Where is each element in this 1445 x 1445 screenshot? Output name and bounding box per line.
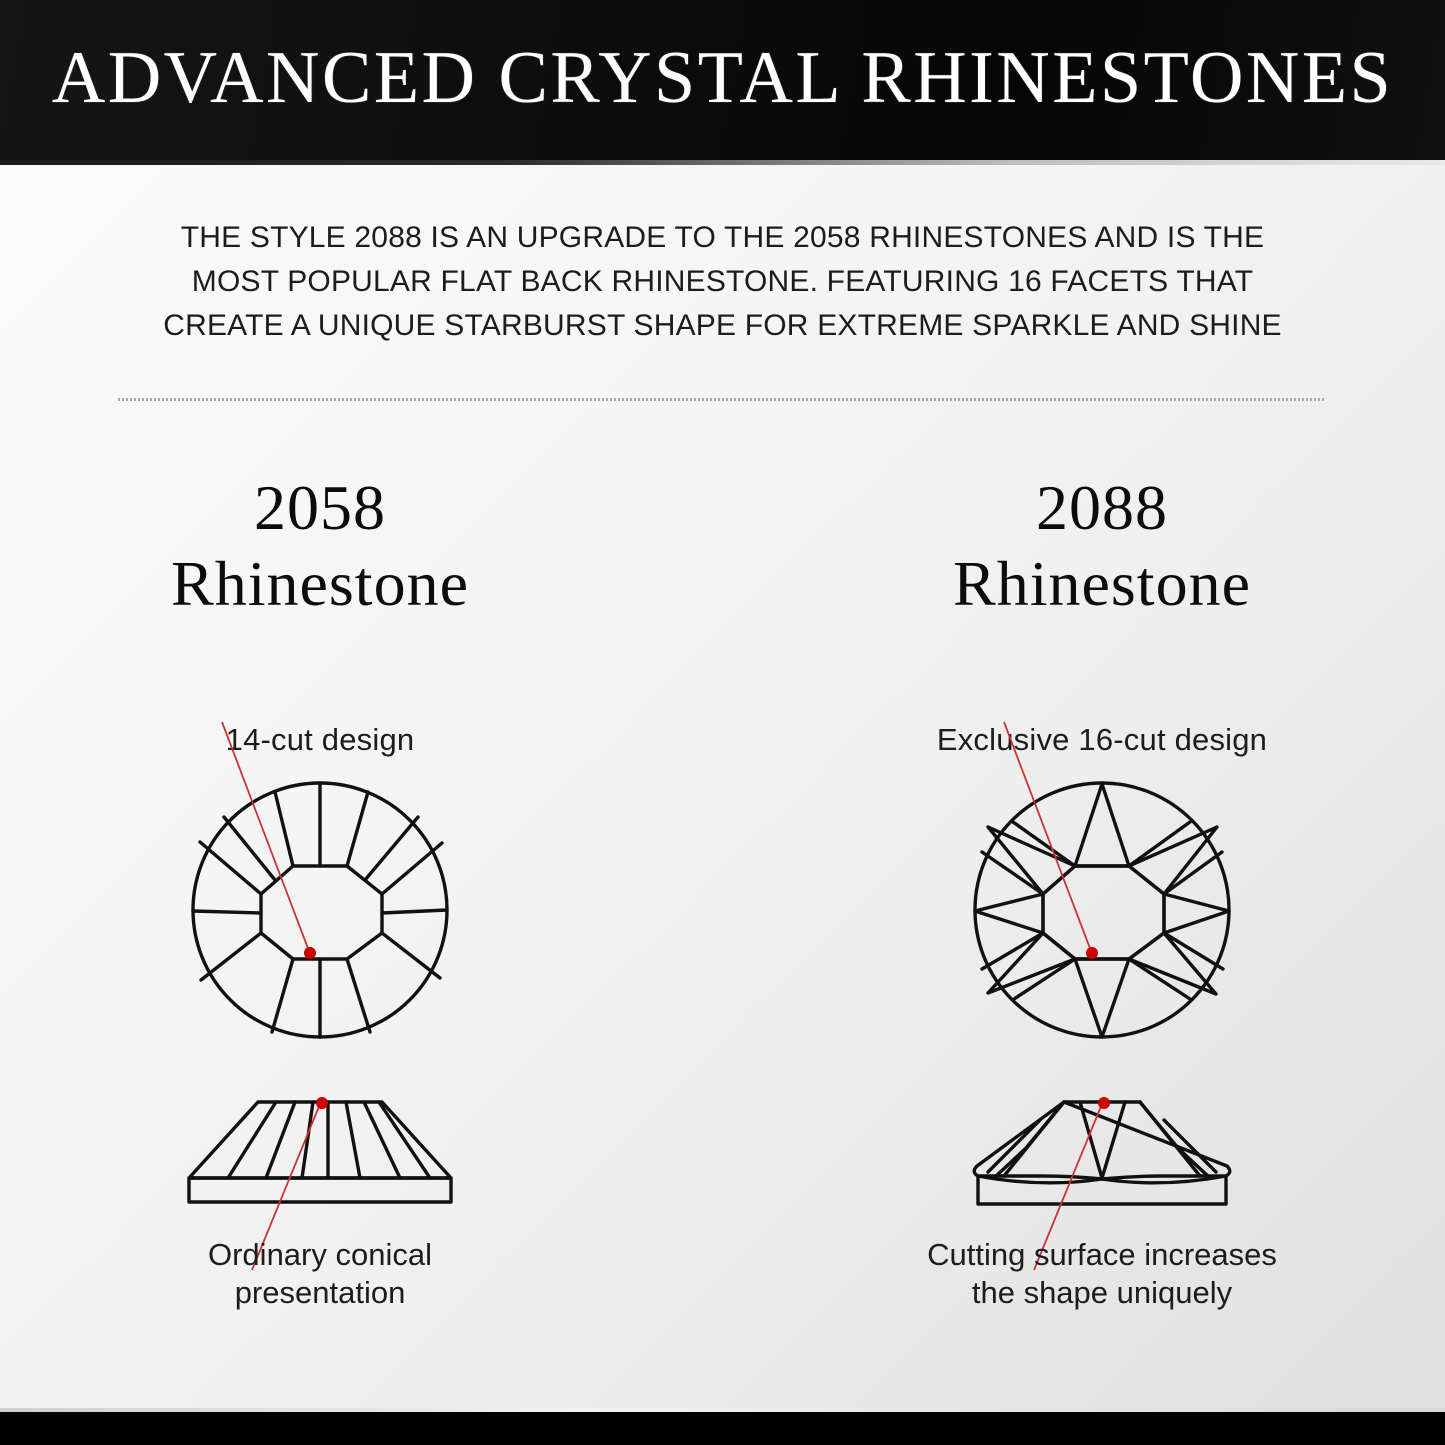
column-2088-title: 2088 Rhinestone bbox=[792, 470, 1412, 622]
rhinestone-top-view-14-cut-icon bbox=[10, 770, 630, 1060]
intro-paragraph: THE STYLE 2088 IS AN UPGRADE TO THE 2058… bbox=[110, 216, 1335, 348]
marker-dot bbox=[1086, 947, 1098, 959]
column-2088-word: Rhinestone bbox=[792, 546, 1412, 622]
rhinestone-top-view-16-cut-starburst-icon bbox=[792, 770, 1412, 1060]
column-2088-caption: Cutting surface increases the shape uniq… bbox=[792, 1236, 1412, 1312]
column-2058-caption: Ordinary conical presentation bbox=[10, 1236, 630, 1312]
page-title: ADVANCED CRYSTAL RHINESTONES bbox=[0, 36, 1445, 121]
rhinestone-side-view-starburst-icon bbox=[792, 1080, 1412, 1230]
column-2058-title: 2058 Rhinestone bbox=[10, 470, 630, 622]
column-2058-facet-label: 14-cut design bbox=[10, 722, 630, 758]
column-2058: 2058 Rhinestone 14-cut design bbox=[10, 470, 630, 622]
infographic-page: ADVANCED CRYSTAL RHINESTONES THE STYLE 2… bbox=[0, 0, 1445, 1445]
marker-dot bbox=[304, 947, 316, 959]
column-2088-caption-line-1: Cutting surface increases bbox=[792, 1236, 1412, 1274]
section-divider bbox=[118, 398, 1326, 401]
header-divider-rule bbox=[0, 160, 1445, 165]
rhinestone-side-view-conical-icon bbox=[10, 1080, 630, 1230]
intro-line-2: MOST POPULAR FLAT BACK RHINESTONE. FEATU… bbox=[110, 260, 1335, 304]
intro-line-3: CREATE A UNIQUE STARBURST SHAPE FOR EXTR… bbox=[110, 304, 1335, 348]
footer-bar bbox=[0, 1412, 1445, 1445]
column-2058-caption-line-1: Ordinary conical bbox=[10, 1236, 630, 1274]
column-2088-facet-label: Exclusive 16-cut design bbox=[792, 722, 1412, 758]
column-2058-word: Rhinestone bbox=[10, 546, 630, 622]
marker-dot bbox=[316, 1097, 328, 1109]
column-2088: 2088 Rhinestone Exclusive 16-cut design bbox=[792, 470, 1412, 622]
intro-line-1: THE STYLE 2088 IS AN UPGRADE TO THE 2058… bbox=[110, 216, 1335, 260]
column-2088-number: 2088 bbox=[792, 470, 1412, 546]
column-2088-caption-line-2: the shape uniquely bbox=[792, 1274, 1412, 1312]
marker-dot bbox=[1098, 1097, 1110, 1109]
column-2058-caption-line-2: presentation bbox=[10, 1274, 630, 1312]
column-2058-number: 2058 bbox=[10, 470, 630, 546]
